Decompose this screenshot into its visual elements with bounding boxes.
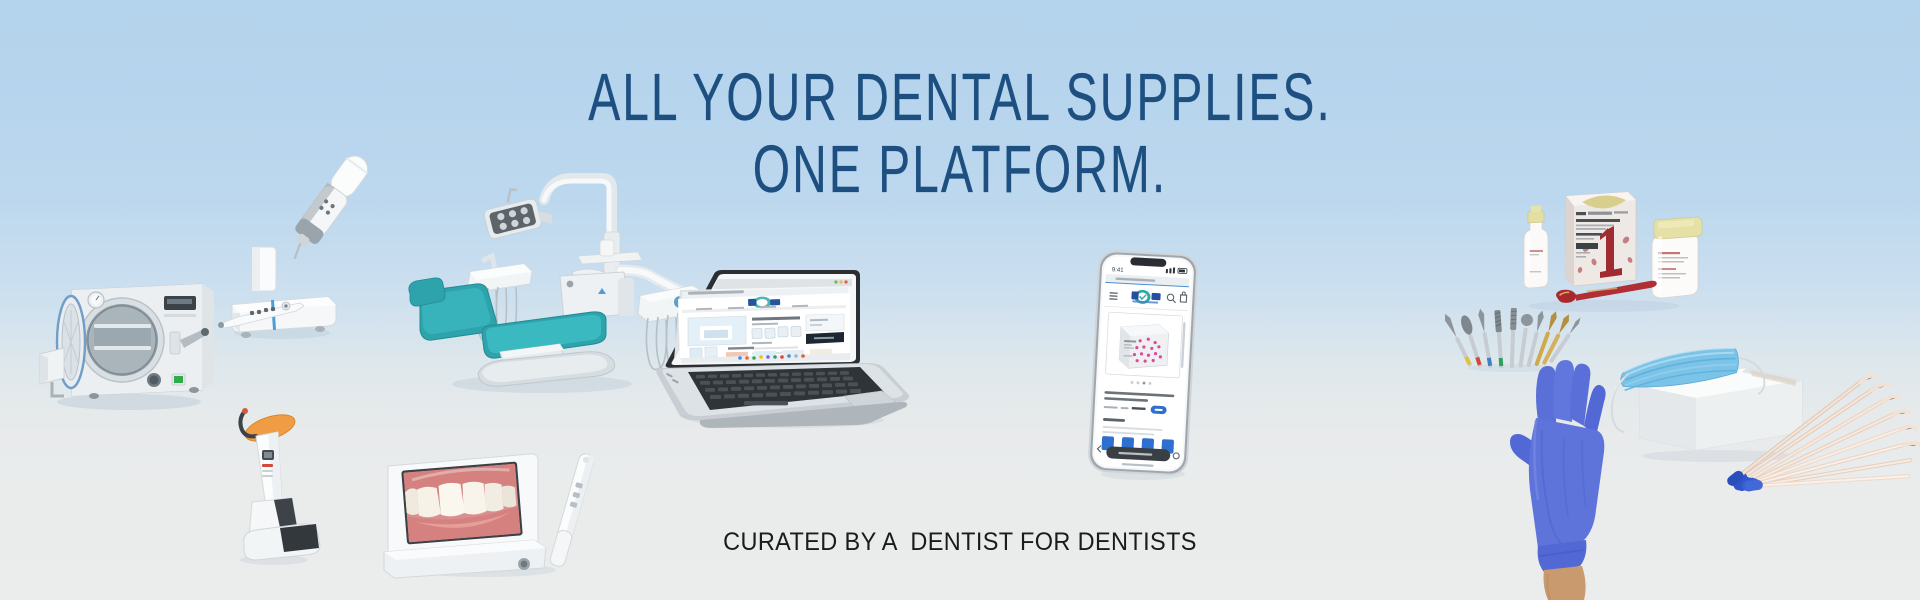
product-cement-kit xyxy=(1502,168,1707,313)
product-laptop xyxy=(648,268,918,428)
product-saliva-ejectors xyxy=(1720,380,1920,520)
laptop-icon xyxy=(648,268,918,428)
product-autoclave xyxy=(24,262,220,412)
nitrile-glove-icon xyxy=(1508,360,1618,600)
product-ultrasonic-scaler xyxy=(216,245,346,340)
phone-status-time: 9:41 xyxy=(1112,267,1125,274)
cement-kit-icon xyxy=(1502,168,1707,313)
product-smartphone: 9:41 xyxy=(1077,248,1209,480)
product-intraoral-camera xyxy=(384,452,594,578)
headline-line-1: ALL YOUR DENTAL SUPPLIES. xyxy=(192,62,1728,134)
smartphone-icon: 9:41 xyxy=(1077,248,1209,480)
hamburger-icon xyxy=(1109,292,1117,300)
saliva-ejectors-icon xyxy=(1720,380,1920,520)
intraoral-camera-icon xyxy=(384,452,594,578)
product-curing-light xyxy=(222,404,332,566)
product-nitrile-glove xyxy=(1508,360,1618,600)
ultrasonic-scaler-icon xyxy=(216,245,346,340)
hero-banner: ALL YOUR DENTAL SUPPLIES. ONE PLATFORM. … xyxy=(0,0,1920,600)
curing-light-icon xyxy=(222,404,332,566)
autoclave-icon xyxy=(24,262,220,412)
